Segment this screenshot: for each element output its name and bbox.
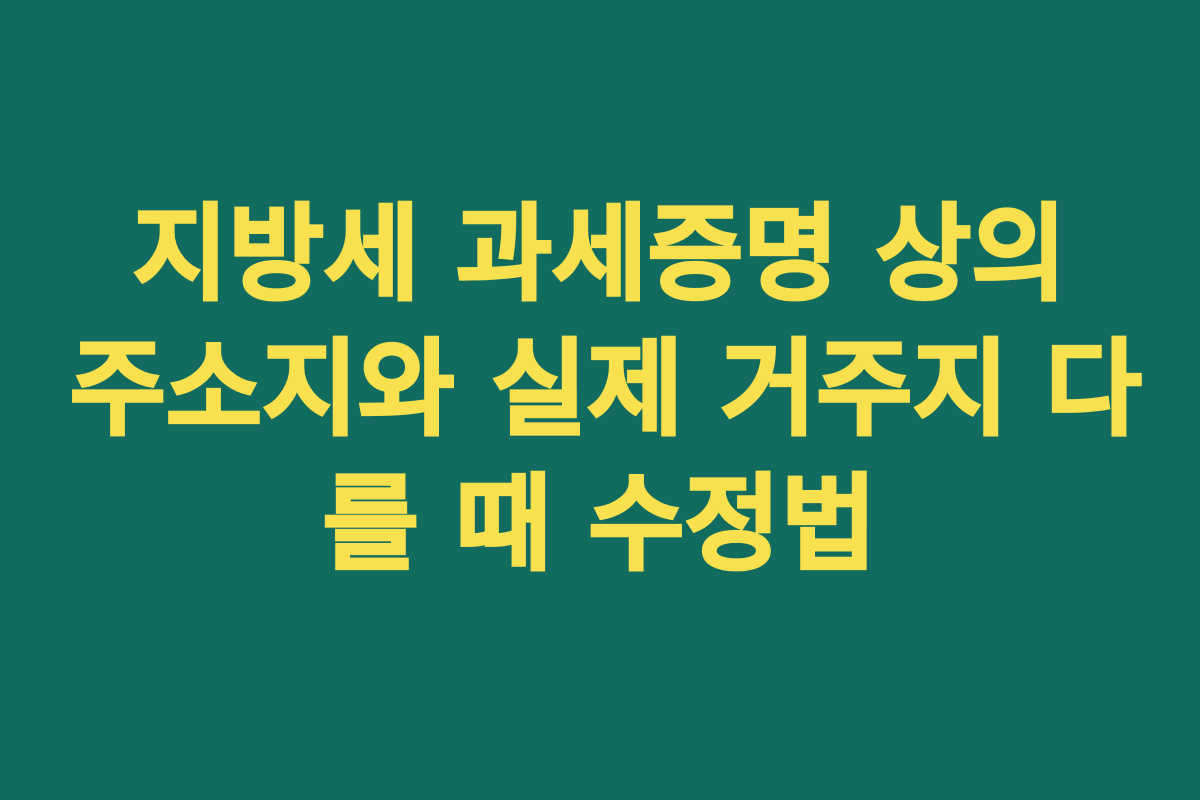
headline-block: 지방세 과세증명 상의 주소지와 실제 거주지 다 를 때 수정법 <box>70 187 1130 592</box>
thumbnail-card: 지방세 과세증명 상의 주소지와 실제 거주지 다 를 때 수정법 <box>0 0 1200 800</box>
headline-line-2: 주소지와 실제 거주지 다 <box>70 322 1130 457</box>
headline-line-3: 를 때 수정법 <box>70 457 1130 592</box>
headline-line-1: 지방세 과세증명 상의 <box>73 187 1128 322</box>
